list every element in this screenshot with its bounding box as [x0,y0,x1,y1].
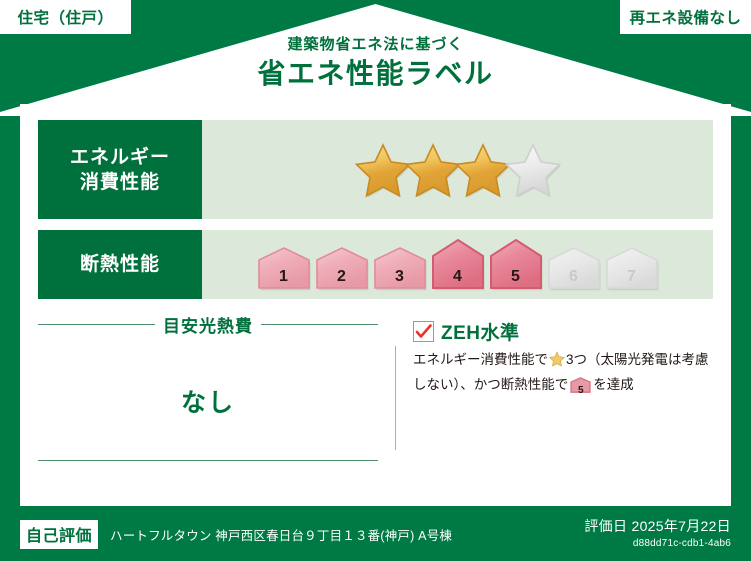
footer: 自己評価 ハートフルタウン 神戸西区春日台９丁目１３番(神戸) A号棟 評価日 … [0,506,751,561]
badge-renewable-energy-label: 再エネ設備なし [629,6,741,28]
insulation-level-5: 5 [488,238,544,292]
rule-left [38,324,155,325]
energy-performance-row: エネルギー 消費性能 [38,120,713,219]
house-icon [546,246,602,292]
utility-cost-heading-label: 目安光熱費 [155,312,261,337]
badge-renewable-energy: 再エネ設備なし [620,0,751,34]
inline-house-badge: 5 [570,377,591,400]
insulation-level-2: 2 [314,246,370,292]
house-icon [430,238,486,292]
zeh-header: ZEH水準 [413,318,713,345]
check-icon [415,323,432,340]
zeh-description: エネルギー消費性能で3つ（太陽光発電は考慮しない）、かつ断熱性能で5を達成 [413,349,713,400]
property-address: ハートフルタウン 神戸西区春日台９丁目１３番(神戸) A号棟 [110,525,452,544]
inline-house-level: 5 [570,380,591,402]
house-icon [314,246,370,292]
energy-label-line2: 消費性能 [80,170,160,195]
zeh-desc-part1: エネルギー消費性能で [413,352,548,367]
zeh-title: ZEH水準 [441,318,520,345]
main-panel: エネルギー 消費性能 断熱性能 1234567 目安光熱費 [20,104,731,506]
insulation-level-3: 3 [372,246,428,292]
insulation-level-7: 7 [604,246,660,292]
house-icon [372,246,428,292]
star-icon-empty [505,142,561,198]
house-icon [256,246,312,292]
energy-performance-label-box: エネルギー 消費性能 [38,120,202,219]
house-icon [488,238,544,292]
rule-right [261,324,378,325]
star-icon-filled [405,142,461,198]
self-evaluation-badge: 自己評価 [20,520,98,549]
evaluation-date-value: 2025年7月22日 [631,518,731,534]
utility-cost-bottom-rule [38,460,378,461]
title-subtitle: 建築物省エネ法に基づく [0,36,751,54]
title-main: 省エネ性能ラベル [0,56,751,92]
insulation-label: 断熱性能 [80,252,160,277]
zeh-desc-star-count: 3つ（太陽光発電 [566,352,668,367]
energy-label-line1: エネルギー [70,145,170,170]
energy-performance-label: 住宅（住戸） 再エネ設備なし 建築物省エネ法に基づく 省エネ性能ラベル エネルギ… [0,0,751,561]
badge-housing-type-label: 住宅（住戸） [17,6,113,28]
zeh-checkbox[interactable] [413,321,434,342]
zeh-block: ZEH水準 エネルギー消費性能で3つ（太陽光発電は考慮しない）、かつ断熱性能で5… [395,310,713,488]
badge-housing-type: 住宅（住戸） [0,0,131,34]
star-icon-filled [355,142,411,198]
zeh-desc-part3: を達成 [593,377,634,392]
inline-star-icon [549,355,565,370]
insulation-performance-label-box: 断熱性能 [38,230,202,299]
energy-performance-value [202,120,713,219]
insulation-performance-value: 1234567 [202,230,713,299]
utility-cost-value: なし [38,383,378,419]
utility-cost-block: 目安光熱費 なし [38,310,395,488]
page-title: 建築物省エネ法に基づく 省エネ性能ラベル [0,36,751,92]
house-icon [604,246,660,292]
insulation-level-6: 6 [546,246,602,292]
insulation-level-1: 1 [256,246,312,292]
vertical-divider [395,346,396,450]
insulation-level-4: 4 [430,238,486,292]
lower-section: 目安光熱費 なし ZEH水準 エネルギー消費性能で3つ [38,310,713,488]
star-rating [358,142,558,198]
insulation-scale: 1234567 [256,238,660,292]
document-id: d88dd71c-cdb1-4ab6 [584,538,731,549]
star-icon-filled [455,142,511,198]
evaluation-meta: 評価日 2025年7月22日 d88dd71c-cdb1-4ab6 [584,516,731,549]
utility-cost-heading: 目安光熱費 [38,312,378,337]
insulation-performance-row: 断熱性能 1234567 [38,230,713,299]
evaluation-date-label: 評価日 [584,518,627,534]
evaluation-date: 評価日 2025年7月22日 [584,516,731,536]
